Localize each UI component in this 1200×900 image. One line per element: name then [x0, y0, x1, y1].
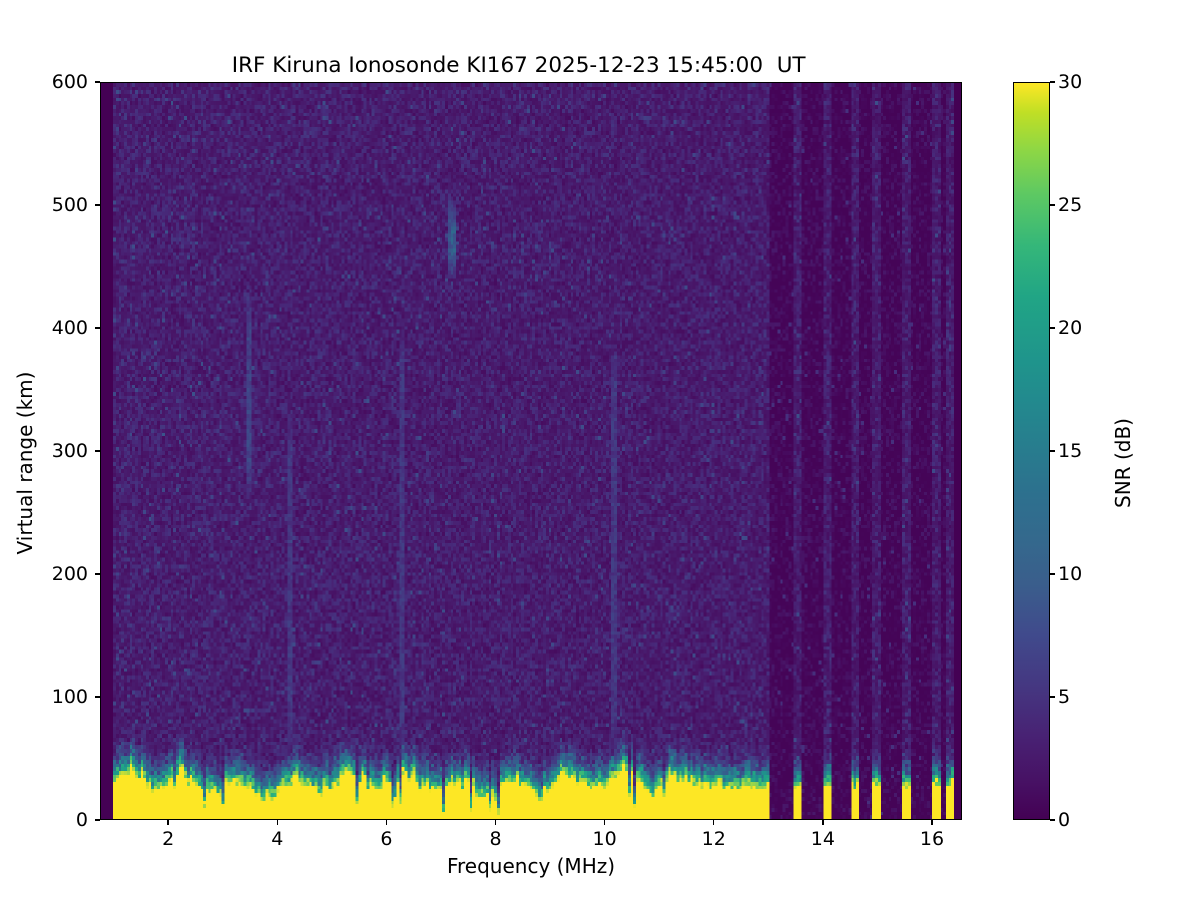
y-tick-label-0: 0 [76, 809, 88, 831]
y-tick-label-wrap-400: 400 [88, 317, 124, 339]
y-tick-label-wrap-300: 300 [88, 440, 124, 462]
colorbar-tick-15 [1050, 450, 1055, 451]
x-tick-label-8: 8 [489, 828, 501, 850]
x-tick-12 [713, 820, 714, 825]
colorbar-tick-10 [1050, 573, 1055, 574]
colorbar-tick-label-20: 20 [1058, 317, 1082, 339]
x-tick-4 [277, 820, 278, 825]
y-tick-label-100: 100 [52, 686, 88, 708]
x-tick-6 [386, 820, 387, 825]
colorbar-tick-0 [1050, 819, 1055, 820]
y-tick-label-wrap-100: 100 [88, 686, 124, 708]
colorbar-tick-label-25: 25 [1058, 194, 1082, 216]
y-tick-label-400: 400 [52, 317, 88, 339]
colorbar-tick-label-15: 15 [1058, 440, 1082, 462]
colorbar-label: SNR (dB) [1111, 313, 1135, 613]
y-tick-label-wrap-600: 600 [88, 71, 124, 93]
y-tick-label-wrap-200: 200 [88, 563, 124, 585]
x-tick-label-4: 4 [271, 828, 283, 850]
ionogram-plot-area [100, 82, 962, 820]
y-tick-label-wrap-0: 0 [88, 809, 100, 831]
figure-title-line1: IRF Kiruna Ionosonde KI167 2025-12-23 15… [232, 53, 806, 78]
y-tick-label-200: 200 [52, 563, 88, 585]
colorbar-gradient [1013, 82, 1050, 820]
y-tick-label-600: 600 [52, 71, 88, 93]
x-tick-label-14: 14 [811, 828, 835, 850]
colorbar-tick-label-30: 30 [1058, 71, 1082, 93]
x-axis-label: Frequency (MHz) [100, 854, 962, 878]
x-tick-label-2: 2 [162, 828, 174, 850]
x-tick-label-16: 16 [920, 828, 944, 850]
x-tick-label-12: 12 [702, 828, 726, 850]
x-tick-8 [495, 820, 496, 825]
y-tick-label-500: 500 [52, 194, 88, 216]
x-tick-label-10: 10 [593, 828, 617, 850]
x-tick-16 [931, 820, 932, 825]
x-tick-label-6: 6 [380, 828, 392, 850]
x-tick-10 [604, 820, 605, 825]
x-tick-14 [822, 820, 823, 825]
y-axis-label: Virtual range (km) [13, 213, 37, 713]
x-tick-2 [167, 820, 168, 825]
colorbar-tick-30 [1050, 81, 1055, 82]
ionogram-figure: IRF Kiruna Ionosonde KI167 2025-12-23 15… [0, 0, 1200, 900]
y-tick-label-300: 300 [52, 440, 88, 462]
colorbar-tick-20 [1050, 327, 1055, 328]
y-tick-label-wrap-500: 500 [88, 194, 124, 216]
colorbar-tick-25 [1050, 204, 1055, 205]
ionogram-heatmap [101, 83, 961, 819]
colorbar-tick-label-5: 5 [1058, 686, 1070, 708]
colorbar-tick-5 [1050, 696, 1055, 697]
colorbar-tick-label-10: 10 [1058, 563, 1082, 585]
colorbar-tick-label-0: 0 [1058, 809, 1070, 831]
